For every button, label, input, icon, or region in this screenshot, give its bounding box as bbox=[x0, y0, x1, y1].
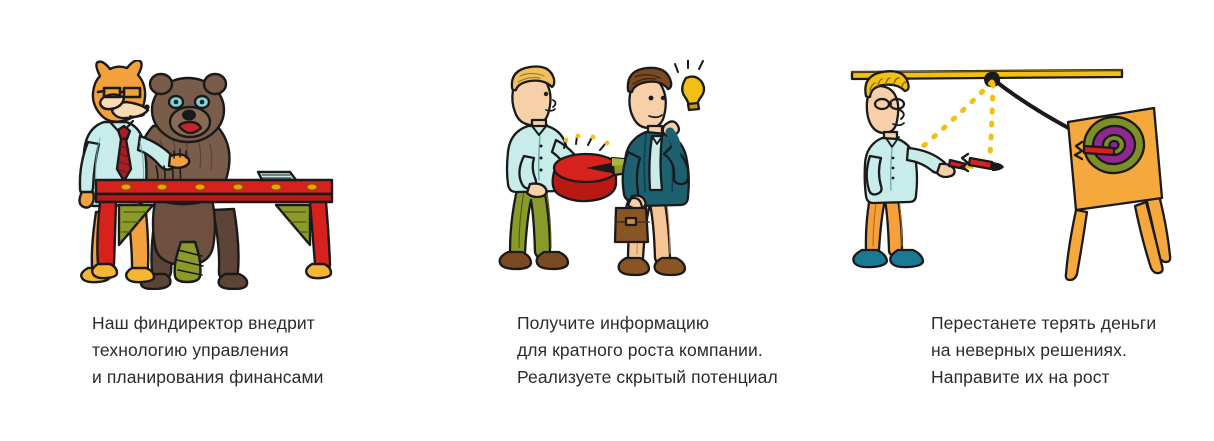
benefit-column-stop-losing-money: Перестанете терять деньги на неверных ре… bbox=[840, 0, 1214, 441]
target-board-easel bbox=[1066, 108, 1170, 280]
man-with-briefcase-figure bbox=[615, 68, 689, 275]
benefit-column-finance-director: Наш финдиректор внедрит технологию управ… bbox=[0, 0, 420, 441]
benefit-caption-stop-losing-money: Перестанете терять деньги на неверных ре… bbox=[931, 310, 1214, 391]
benefit-caption-information: Получите информацию для кратного роста к… bbox=[517, 310, 847, 391]
illustration-man-throwing-darts-at-target-board bbox=[840, 60, 1214, 290]
dart-in-flight bbox=[961, 154, 1004, 171]
benefits-row: Наш финдиректор внедрит технологию управ… bbox=[0, 0, 1214, 441]
dart-thrower-figure bbox=[853, 71, 974, 267]
illustration-fox-businessman-and-bear-at-red-desk bbox=[0, 60, 420, 290]
lightbulb-icon bbox=[675, 60, 704, 110]
dart-trajectory-lines bbox=[914, 82, 993, 156]
benefit-caption-finance-director: Наш финдиректор внедрит технологию управ… bbox=[92, 310, 412, 391]
benefit-column-information: Получите информацию для кратного роста к… bbox=[420, 0, 840, 441]
illustration-man-handing-pie-chart-to-thinking-man bbox=[420, 60, 840, 290]
